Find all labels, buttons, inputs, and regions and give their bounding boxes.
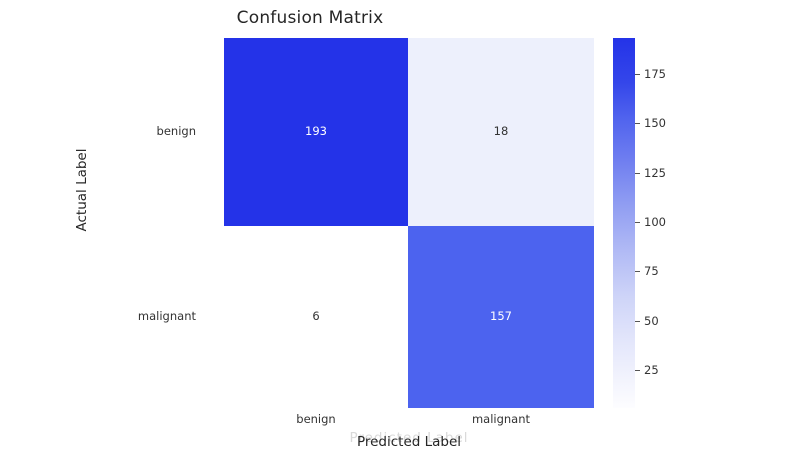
heatmap-cell-malignant-malignant: 157 bbox=[408, 226, 594, 408]
colorbar-tick-label: 100 bbox=[635, 215, 666, 229]
y-axis-label: Actual Label bbox=[74, 90, 90, 290]
x-tick-label-malignant: malignant bbox=[408, 412, 594, 426]
cell-value: 18 bbox=[494, 126, 509, 138]
y-tick-label-malignant: malignant bbox=[138, 309, 196, 323]
colorbar-tick-mark bbox=[635, 173, 640, 174]
colorbar-tick-label: 50 bbox=[635, 314, 659, 328]
colorbar-tick-label: 125 bbox=[635, 166, 666, 180]
colorbar-tick-mark bbox=[635, 74, 640, 75]
chart-title: Confusion Matrix bbox=[0, 8, 620, 28]
cell-value: 6 bbox=[312, 311, 319, 323]
colorbar-tick-mark bbox=[635, 123, 640, 124]
colorbar-tick-text: 100 bbox=[644, 215, 666, 229]
confusion-matrix-figure: Confusion Matrix benign malignant Actual… bbox=[0, 0, 800, 460]
colorbar-tick-text: 175 bbox=[644, 67, 666, 81]
cell-value: 193 bbox=[305, 126, 327, 138]
x-axis-label: Predicted Label bbox=[224, 434, 594, 450]
cell-value: 157 bbox=[490, 311, 512, 323]
colorbar-tick-mark bbox=[635, 321, 640, 322]
y-tick-label-benign: benign bbox=[157, 124, 196, 138]
colorbar-tick-label: 25 bbox=[635, 363, 659, 377]
colorbar-gradient bbox=[613, 38, 635, 408]
colorbar-tick-text: 75 bbox=[644, 264, 659, 278]
colorbar-tick-text: 125 bbox=[644, 166, 666, 180]
colorbar-tick-text: 25 bbox=[644, 363, 659, 377]
colorbar-tick-mark bbox=[635, 222, 640, 223]
colorbar-tick-label: 175 bbox=[635, 67, 666, 81]
colorbar bbox=[613, 38, 635, 408]
colorbar-tick-mark bbox=[635, 370, 640, 371]
colorbar-tick-text: 50 bbox=[644, 314, 659, 328]
heatmap-cell-benign-malignant: 18 bbox=[408, 38, 594, 226]
heatmap-cell-malignant-benign: 6 bbox=[224, 226, 408, 408]
colorbar-tick-mark bbox=[635, 271, 640, 272]
colorbar-tick-label: 150 bbox=[635, 116, 666, 130]
heatmap-plot-area: 193 18 6 157 bbox=[224, 38, 594, 408]
colorbar-tick-text: 150 bbox=[644, 116, 666, 130]
colorbar-tick-label: 75 bbox=[635, 264, 659, 278]
x-tick-label-benign: benign bbox=[224, 412, 408, 426]
heatmap-cell-benign-benign: 193 bbox=[224, 38, 408, 226]
